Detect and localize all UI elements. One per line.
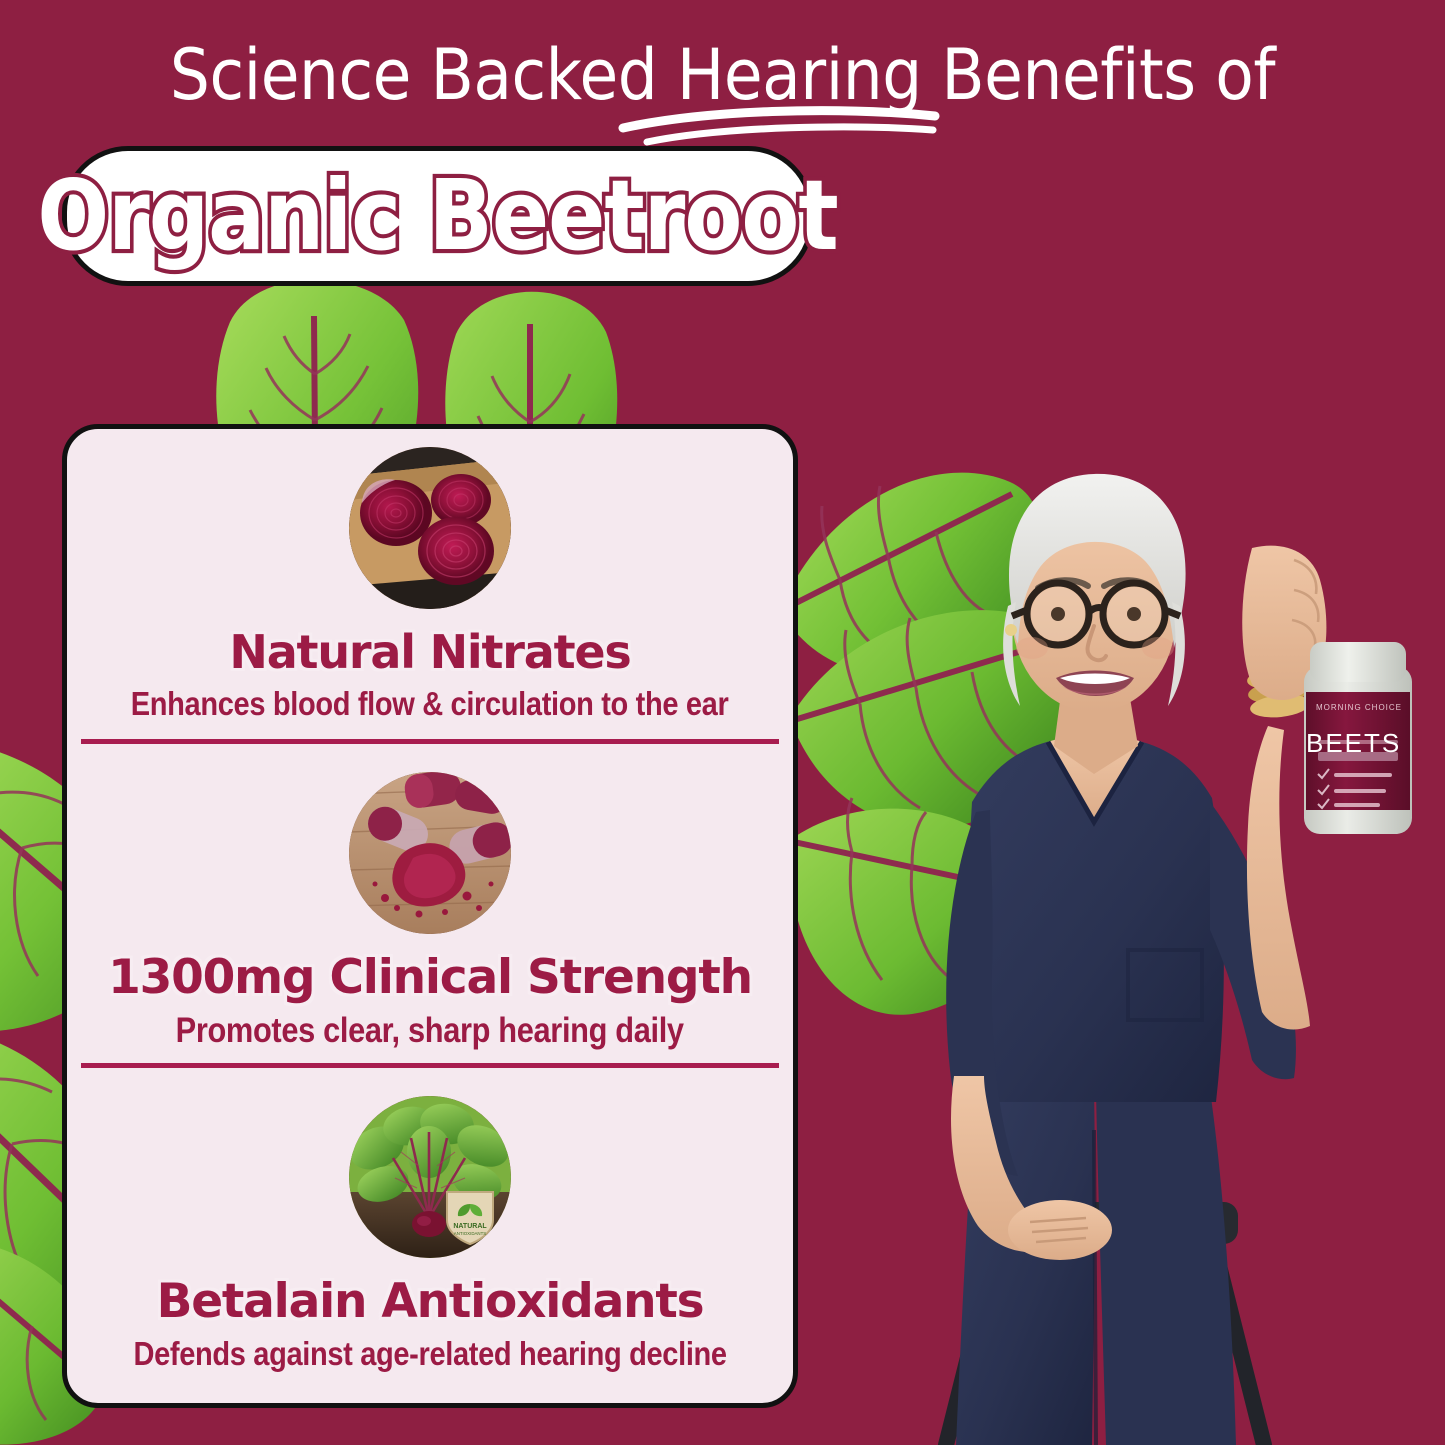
benefit-item-natural-nitrates: Natural Nitrates Enhances blood flow & c… <box>67 429 793 754</box>
model-woman-photo <box>880 430 1445 1445</box>
beet-plant-soil-photo-icon: NATURAL ANTIOXIDANTS <box>349 1096 511 1258</box>
benefit-title: Natural Nitrates <box>229 625 630 679</box>
benefit-divider <box>81 739 779 744</box>
svg-text:ANTIOXIDANTS: ANTIOXIDANTS <box>454 1231 487 1236</box>
poster-canvas: Science Backed Hearing Benefits of Organ… <box>0 0 1445 1445</box>
product-title-pill: Organic Beetroot <box>62 146 814 286</box>
benefit-divider <box>81 1063 779 1068</box>
benefit-item-clinical-strength: 1300mg Clinical Strength Promotes clear,… <box>67 754 793 1079</box>
product-title-text: Organic Beetroot <box>38 160 838 272</box>
benefit-title: 1300mg Clinical Strength <box>108 950 752 1005</box>
benefit-subtitle: Defends against age-related hearing decl… <box>133 1335 726 1373</box>
benefit-subtitle: Promotes clear, sharp hearing daily <box>176 1011 684 1051</box>
benefits-card: Natural Nitrates Enhances blood flow & c… <box>62 424 798 1408</box>
bottle-brand-mark: MORNING CHOICE <box>1316 703 1402 712</box>
sliced-beetroot-photo-icon <box>349 447 511 609</box>
svg-text:NATURAL: NATURAL <box>453 1223 487 1230</box>
benefit-subtitle: Enhances blood flow & circulation to the… <box>131 685 729 723</box>
beet-powder-capsules-photo-icon <box>349 772 511 934</box>
page-headline: Science Backed Hearing Benefits of <box>72 34 1373 116</box>
benefit-title: Betalain Antioxidants <box>157 1274 704 1329</box>
bottle-product-name: BEETS <box>1306 728 1401 759</box>
benefit-item-betalain-antioxidants: NATURAL ANTIOXIDANTS Betalain Antioxidan… <box>67 1078 793 1403</box>
